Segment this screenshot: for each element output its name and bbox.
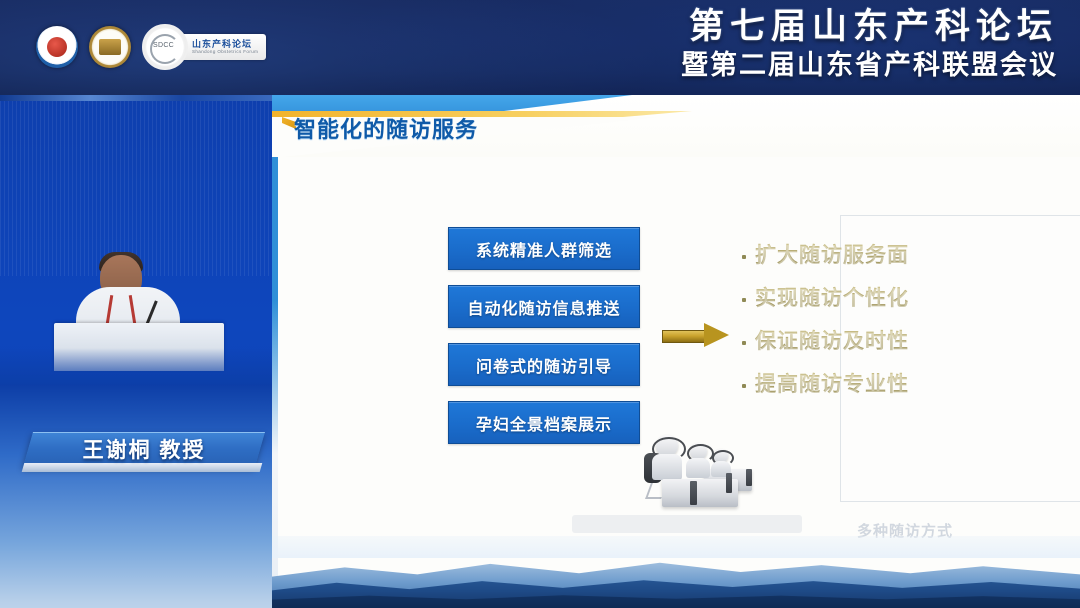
conference-title: 第七届山东产科论坛 暨第二届山东省产科联盟会议 xyxy=(681,6,1058,82)
process-box[interactable]: 自动化随访信息推送 xyxy=(448,285,640,328)
process-box-list: 系统精准人群筛选 自动化随访信息推送 问卷式的随访引导 孕妇全景档案展示 xyxy=(448,227,638,459)
outcome-label: 提高随访专业性 xyxy=(755,370,909,400)
bullet-dot-icon xyxy=(742,298,746,302)
speaker-video-feed: 王谢桐 教授 主办单位： 山东省产科质控中心 山东第一医科大学附属省立医院 协办… xyxy=(0,95,272,608)
presentation-slide: 智能化的随访服务 多种随访方式 随访表 系统精准人群筛选 自动化随访信息推送 问… xyxy=(272,95,1080,608)
logo-group: SDCC 山东产科论坛 Shandong Obstetrics Forum xyxy=(36,24,266,70)
right-arrow-icon xyxy=(662,323,730,347)
outcome-list: 扩大随访服务面 实现随访个性化 保证随访及时性 提高随访专业性 xyxy=(742,241,1022,413)
sdcc-abbr-label: SDCC xyxy=(153,42,174,49)
desk-divider xyxy=(726,473,732,493)
ghost-placeholder xyxy=(572,515,802,533)
process-box[interactable]: 问卷式的随访引导 xyxy=(448,343,640,386)
video-fade xyxy=(0,348,272,388)
forum-logo-en-label: Shandong Obstetrics Forum xyxy=(192,49,258,55)
conference-title-line2: 暨第二届山东省产科联盟会议 xyxy=(681,48,1058,82)
mist-overlay xyxy=(272,536,1080,558)
conference-header-banner: SDCC 山东产科论坛 Shandong Obstetrics Forum 第七… xyxy=(0,0,1080,95)
bullet-dot-icon xyxy=(742,255,746,259)
outcome-label: 实现随访个性化 xyxy=(755,284,909,314)
conference-title-line1: 第七届山东产科论坛 xyxy=(681,6,1058,48)
speaker-name-label: 王谢桐 教授 xyxy=(28,432,260,466)
call-center-operators-illustration xyxy=(650,435,760,515)
desk-divider xyxy=(690,481,697,505)
slide-left-edge xyxy=(272,95,278,608)
list-item: 保证随访及时性 xyxy=(742,327,1022,357)
forum-logo-cn-label: 山东产科论坛 xyxy=(192,40,258,49)
shandong-obstetrics-quality-control-logo-icon xyxy=(36,26,78,68)
process-box[interactable]: 孕妇全景档案展示 xyxy=(448,401,640,444)
list-item: 扩大随访服务面 xyxy=(742,241,1022,271)
outcome-label: 扩大随访服务面 xyxy=(755,241,909,271)
desk-divider xyxy=(746,469,752,486)
slide-footer-mountains xyxy=(272,536,1080,608)
provincial-hospital-logo-icon xyxy=(89,26,131,68)
sdcc-forum-logo-icon: SDCC 山东产科论坛 Shandong Obstetrics Forum xyxy=(142,24,266,70)
list-item: 提高随访专业性 xyxy=(742,370,1022,400)
outcome-label: 保证随访及时性 xyxy=(755,327,909,357)
slide-title: 智能化的随访服务 xyxy=(294,112,478,144)
bullet-dot-icon xyxy=(742,384,746,388)
speaker-nameplate: 王谢桐 教授 xyxy=(28,432,260,474)
process-box[interactable]: 系统精准人群筛选 xyxy=(448,227,640,270)
bullet-dot-icon xyxy=(742,341,746,345)
led-wall-texture xyxy=(0,101,272,276)
list-item: 实现随访个性化 xyxy=(742,284,1022,314)
sky-background xyxy=(0,385,272,608)
broadcast-screen: SDCC 山东产科论坛 Shandong Obstetrics Forum 第七… xyxy=(0,0,1080,608)
